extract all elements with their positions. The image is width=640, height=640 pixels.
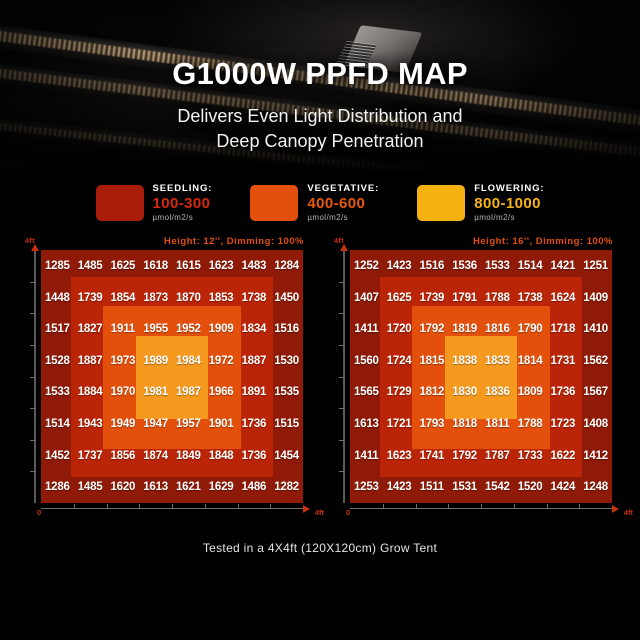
ppfd-cell: 1943 xyxy=(74,408,107,440)
ppfd-cell: 1790 xyxy=(514,313,547,345)
ppfd-cell: 1618 xyxy=(139,250,172,282)
ppfd-cell: 1542 xyxy=(481,471,514,503)
ppfd-map-group: Height: 12'', Dimming: 100% 4ft 12851485… xyxy=(0,230,640,519)
y-axis-16in xyxy=(343,250,345,503)
x-axis-tick xyxy=(514,504,515,509)
ppfd-cell: 1528 xyxy=(41,345,74,377)
ppfd-cell: 1848 xyxy=(205,440,238,472)
ppfd-cell: 1738 xyxy=(514,282,547,314)
ppfd-cell: 1531 xyxy=(448,471,481,503)
ppfd-cell: 1870 xyxy=(172,282,205,314)
ppfd-cell: 1562 xyxy=(579,345,612,377)
page-title: G1000W PPFD MAP xyxy=(172,56,468,92)
ppfd-cell: 1622 xyxy=(547,440,580,472)
ppfd-cell: 1834 xyxy=(238,313,271,345)
y-axis-arrow-icon xyxy=(31,244,39,251)
ppfd-cell: 1736 xyxy=(238,408,271,440)
ppfd-cell: 1887 xyxy=(74,345,107,377)
x-axis-tick xyxy=(448,504,449,509)
hero-banner: G1000W PPFD MAP Delivers Even Light Dist… xyxy=(0,0,640,172)
ppfd-cell: 1739 xyxy=(74,282,107,314)
ppfd-cell: 1410 xyxy=(579,313,612,345)
ppfd-cell: 1448 xyxy=(41,282,74,314)
ppfd-cell: 1949 xyxy=(107,408,140,440)
ppfd-cell: 1729 xyxy=(383,377,416,409)
ppfd-cell: 1791 xyxy=(448,282,481,314)
footer-note: Tested in a 4X4ft (120X120cm) Grow Tent xyxy=(0,519,640,555)
x-axis-zero-16in: 0 xyxy=(346,508,350,517)
legend-unit-vegetative: µmol/m2/s xyxy=(307,214,379,222)
ppfd-cell: 1520 xyxy=(514,471,547,503)
ppfd-cell: 1452 xyxy=(41,440,74,472)
x-axis-tick xyxy=(139,504,140,509)
x-axis-tick xyxy=(172,504,173,509)
ppfd-cell: 1424 xyxy=(547,471,580,503)
y-axis-tick xyxy=(30,440,36,441)
ppfd-cell: 1282 xyxy=(270,471,303,503)
ppfd-cell: 1517 xyxy=(41,313,74,345)
map-plot-area-12in: 4ft 128514851625161816151623148312841448… xyxy=(23,250,308,519)
ppfd-cell: 1957 xyxy=(172,408,205,440)
ppfd-cell: 1853 xyxy=(205,282,238,314)
ppfd-cell: 1724 xyxy=(383,345,416,377)
ppfd-cell: 1811 xyxy=(481,408,514,440)
legend-text-seedling: SEEDLING: 100-300 µmol/m2/s xyxy=(153,184,213,222)
ppfd-cell: 1812 xyxy=(416,377,449,409)
ppfd-cell: 1408 xyxy=(579,408,612,440)
ppfd-cell: 1251 xyxy=(579,250,612,282)
page-subtitle: Delivers Even Light Distribution and Dee… xyxy=(177,104,462,154)
ppfd-cell: 1723 xyxy=(547,408,580,440)
x-axis-label-16in: 4ft xyxy=(624,508,633,517)
x-axis-tick xyxy=(270,504,271,509)
ppfd-cell: 1409 xyxy=(579,282,612,314)
ppfd-cell: 1815 xyxy=(416,345,449,377)
y-axis-tick xyxy=(339,377,345,378)
ppfd-cell: 1947 xyxy=(139,408,172,440)
ppfd-cell: 1515 xyxy=(270,408,303,440)
ppfd-cell: 1816 xyxy=(481,313,514,345)
ppfd-cell: 1788 xyxy=(481,282,514,314)
subtitle-line-2: Deep Canopy Penetration xyxy=(177,129,462,154)
x-axis-tick xyxy=(205,504,206,509)
ppfd-cell: 1955 xyxy=(139,313,172,345)
legend-unit-seedling: µmol/m2/s xyxy=(153,214,213,222)
ppfd-cell: 1516 xyxy=(270,313,303,345)
ppfd-cell: 1623 xyxy=(205,250,238,282)
ppfd-cell: 1286 xyxy=(41,471,74,503)
ppfd-cell: 1809 xyxy=(514,377,547,409)
ppfd-cell: 1253 xyxy=(350,471,383,503)
y-axis-tick xyxy=(30,282,36,283)
ppfd-cell: 1911 xyxy=(107,313,140,345)
x-axis-12in xyxy=(41,508,303,509)
ppfd-map-page: { "hero": { "title": "G1000W PPFD MAP", … xyxy=(0,0,640,640)
x-axis-16in xyxy=(350,508,612,509)
legend-item-vegetative: VEGETATIVE: 400-600 µmol/m2/s xyxy=(250,184,379,222)
ppfd-cell: 1792 xyxy=(448,440,481,472)
x-axis-tick xyxy=(547,504,548,509)
ppfd-cell: 1511 xyxy=(416,471,449,503)
ppfd-cell: 1284 xyxy=(270,250,303,282)
ppfd-cell: 1856 xyxy=(107,440,140,472)
x-axis-label-12in: 4ft xyxy=(315,508,324,517)
ppfd-cell: 1620 xyxy=(107,471,140,503)
ppfd-cell: 1989 xyxy=(139,345,172,377)
map-plot-area-16in: 4ft 125214231516153615331514142112511407… xyxy=(332,250,617,519)
ppfd-cell: 1450 xyxy=(270,282,303,314)
ppfd-cell: 1738 xyxy=(238,282,271,314)
ppfd-cell: 1733 xyxy=(514,440,547,472)
y-axis-tick xyxy=(339,282,345,283)
legend-range-seedling: 100-300 xyxy=(153,196,213,212)
ppfd-cell: 1966 xyxy=(205,377,238,409)
hero-text-group: G1000W PPFD MAP Delivers Even Light Dist… xyxy=(0,0,640,172)
ppfd-cell: 1830 xyxy=(448,377,481,409)
ppfd-legend: SEEDLING: 100-300 µmol/m2/s VEGETATIVE: … xyxy=(0,172,640,230)
ppfd-cell: 1972 xyxy=(205,345,238,377)
legend-label-flowering: FLOWERING: xyxy=(474,184,544,194)
heatmap-cells-12in: 1285148516251618161516231483128414481739… xyxy=(41,250,303,503)
ppfd-cell: 1891 xyxy=(238,377,271,409)
y-axis-tick xyxy=(339,471,345,472)
y-axis-12in xyxy=(34,250,36,503)
ppfd-cell: 1615 xyxy=(172,250,205,282)
heatmap-grid-16in: 1252142315161536153315141421125114071625… xyxy=(350,250,612,503)
ppfd-cell: 1838 xyxy=(448,345,481,377)
y-axis-tick xyxy=(30,377,36,378)
legend-label-vegetative: VEGETATIVE: xyxy=(307,184,379,194)
ppfd-cell: 1535 xyxy=(270,377,303,409)
y-axis-tick xyxy=(339,345,345,346)
x-axis-tick xyxy=(107,504,108,509)
ppfd-cell: 1737 xyxy=(74,440,107,472)
ppfd-cell: 1423 xyxy=(383,250,416,282)
ppfd-cell: 1981 xyxy=(139,377,172,409)
ppfd-cell: 1613 xyxy=(350,408,383,440)
ppfd-cell: 1833 xyxy=(481,345,514,377)
ppfd-cell: 1970 xyxy=(107,377,140,409)
y-axis-tick xyxy=(30,471,36,472)
ppfd-cell: 1454 xyxy=(270,440,303,472)
ppfd-map-12in: Height: 12'', Dimming: 100% 4ft 12851485… xyxy=(23,236,308,519)
y-axis-label-16in: 4ft xyxy=(334,236,344,245)
ppfd-cell: 1421 xyxy=(547,250,580,282)
ppfd-cell: 1827 xyxy=(74,313,107,345)
ppfd-cell: 1533 xyxy=(41,377,74,409)
ppfd-cell: 1987 xyxy=(172,377,205,409)
ppfd-cell: 1486 xyxy=(238,471,271,503)
ppfd-cell: 1483 xyxy=(238,250,271,282)
heatmap-cells-16in: 1252142315161536153315141421125114071625… xyxy=(350,250,612,503)
legend-item-seedling: SEEDLING: 100-300 µmol/m2/s xyxy=(96,184,213,222)
x-axis-tick xyxy=(74,504,75,509)
ppfd-cell: 1248 xyxy=(579,471,612,503)
y-axis-tick xyxy=(339,440,345,441)
ppfd-cell: 1818 xyxy=(448,408,481,440)
ppfd-cell: 1884 xyxy=(74,377,107,409)
ppfd-cell: 1849 xyxy=(172,440,205,472)
ppfd-cell: 1567 xyxy=(579,377,612,409)
ppfd-cell: 1285 xyxy=(41,250,74,282)
ppfd-cell: 1514 xyxy=(514,250,547,282)
ppfd-cell: 1252 xyxy=(350,250,383,282)
x-axis-tick xyxy=(416,504,417,509)
ppfd-cell: 1565 xyxy=(350,377,383,409)
ppfd-cell: 1901 xyxy=(205,408,238,440)
ppfd-cell: 1952 xyxy=(172,313,205,345)
legend-range-flowering: 800-1000 xyxy=(474,196,544,212)
ppfd-cell: 1407 xyxy=(350,282,383,314)
ppfd-cell: 1814 xyxy=(514,345,547,377)
heatmap-grid-12in: 1285148516251618161516231483128414481739… xyxy=(41,250,303,503)
ppfd-cell: 1854 xyxy=(107,282,140,314)
x-axis-tick xyxy=(383,504,384,509)
ppfd-cell: 1836 xyxy=(481,377,514,409)
ppfd-cell: 1788 xyxy=(514,408,547,440)
ppfd-cell: 1731 xyxy=(547,345,580,377)
ppfd-cell: 1621 xyxy=(172,471,205,503)
ppfd-cell: 1411 xyxy=(350,313,383,345)
legend-text-vegetative: VEGETATIVE: 400-600 µmol/m2/s xyxy=(307,184,379,222)
ppfd-cell: 1485 xyxy=(74,250,107,282)
y-axis-tick xyxy=(30,408,36,409)
legend-item-flowering: FLOWERING: 800-1000 µmol/m2/s xyxy=(417,184,544,222)
flowering-swatch-icon xyxy=(417,185,465,221)
ppfd-cell: 1792 xyxy=(416,313,449,345)
ppfd-cell: 1629 xyxy=(205,471,238,503)
ppfd-cell: 1736 xyxy=(238,440,271,472)
ppfd-cell: 1514 xyxy=(41,408,74,440)
ppfd-cell: 1516 xyxy=(416,250,449,282)
y-axis-tick xyxy=(339,313,345,314)
ppfd-cell: 1721 xyxy=(383,408,416,440)
y-axis-tick xyxy=(30,345,36,346)
y-axis-arrow-icon xyxy=(340,244,348,251)
ppfd-cell: 1984 xyxy=(172,345,205,377)
ppfd-cell: 1530 xyxy=(270,345,303,377)
ppfd-cell: 1625 xyxy=(383,282,416,314)
ppfd-cell: 1720 xyxy=(383,313,416,345)
ppfd-cell: 1973 xyxy=(107,345,140,377)
x-axis-tick xyxy=(238,504,239,509)
seedling-swatch-icon xyxy=(96,185,144,221)
x-axis-tick xyxy=(481,504,482,509)
ppfd-cell: 1423 xyxy=(383,471,416,503)
ppfd-cell: 1874 xyxy=(139,440,172,472)
legend-label-seedling: SEEDLING: xyxy=(153,184,213,194)
ppfd-cell: 1739 xyxy=(416,282,449,314)
x-axis-arrow-icon xyxy=(612,505,619,513)
map-caption-12in: Height: 12'', Dimming: 100% xyxy=(23,236,308,250)
y-axis-label-12in: 4ft xyxy=(25,236,35,245)
x-axis-zero-12in: 0 xyxy=(37,508,41,517)
y-axis-tick xyxy=(30,313,36,314)
x-axis-tick xyxy=(579,504,580,509)
ppfd-cell: 1909 xyxy=(205,313,238,345)
ppfd-map-16in: Height: 16'', Dimming: 100% 4ft 12521423… xyxy=(332,236,617,519)
map-caption-16in: Height: 16'', Dimming: 100% xyxy=(332,236,617,250)
ppfd-cell: 1887 xyxy=(238,345,271,377)
legend-range-vegetative: 400-600 xyxy=(307,196,379,212)
ppfd-cell: 1412 xyxy=(579,440,612,472)
ppfd-cell: 1411 xyxy=(350,440,383,472)
ppfd-cell: 1873 xyxy=(139,282,172,314)
ppfd-cell: 1533 xyxy=(481,250,514,282)
ppfd-cell: 1625 xyxy=(107,250,140,282)
ppfd-cell: 1736 xyxy=(547,377,580,409)
ppfd-cell: 1787 xyxy=(481,440,514,472)
subtitle-line-1: Delivers Even Light Distribution and xyxy=(177,104,462,129)
ppfd-cell: 1793 xyxy=(416,408,449,440)
vegetative-swatch-icon xyxy=(250,185,298,221)
ppfd-cell: 1624 xyxy=(547,282,580,314)
ppfd-cell: 1613 xyxy=(139,471,172,503)
ppfd-cell: 1536 xyxy=(448,250,481,282)
ppfd-cell: 1623 xyxy=(383,440,416,472)
ppfd-cell: 1741 xyxy=(416,440,449,472)
y-axis-tick xyxy=(339,408,345,409)
ppfd-cell: 1718 xyxy=(547,313,580,345)
ppfd-cell: 1485 xyxy=(74,471,107,503)
ppfd-cell: 1560 xyxy=(350,345,383,377)
legend-unit-flowering: µmol/m2/s xyxy=(474,214,544,222)
legend-text-flowering: FLOWERING: 800-1000 µmol/m2/s xyxy=(474,184,544,222)
x-axis-arrow-icon xyxy=(303,505,310,513)
ppfd-cell: 1819 xyxy=(448,313,481,345)
